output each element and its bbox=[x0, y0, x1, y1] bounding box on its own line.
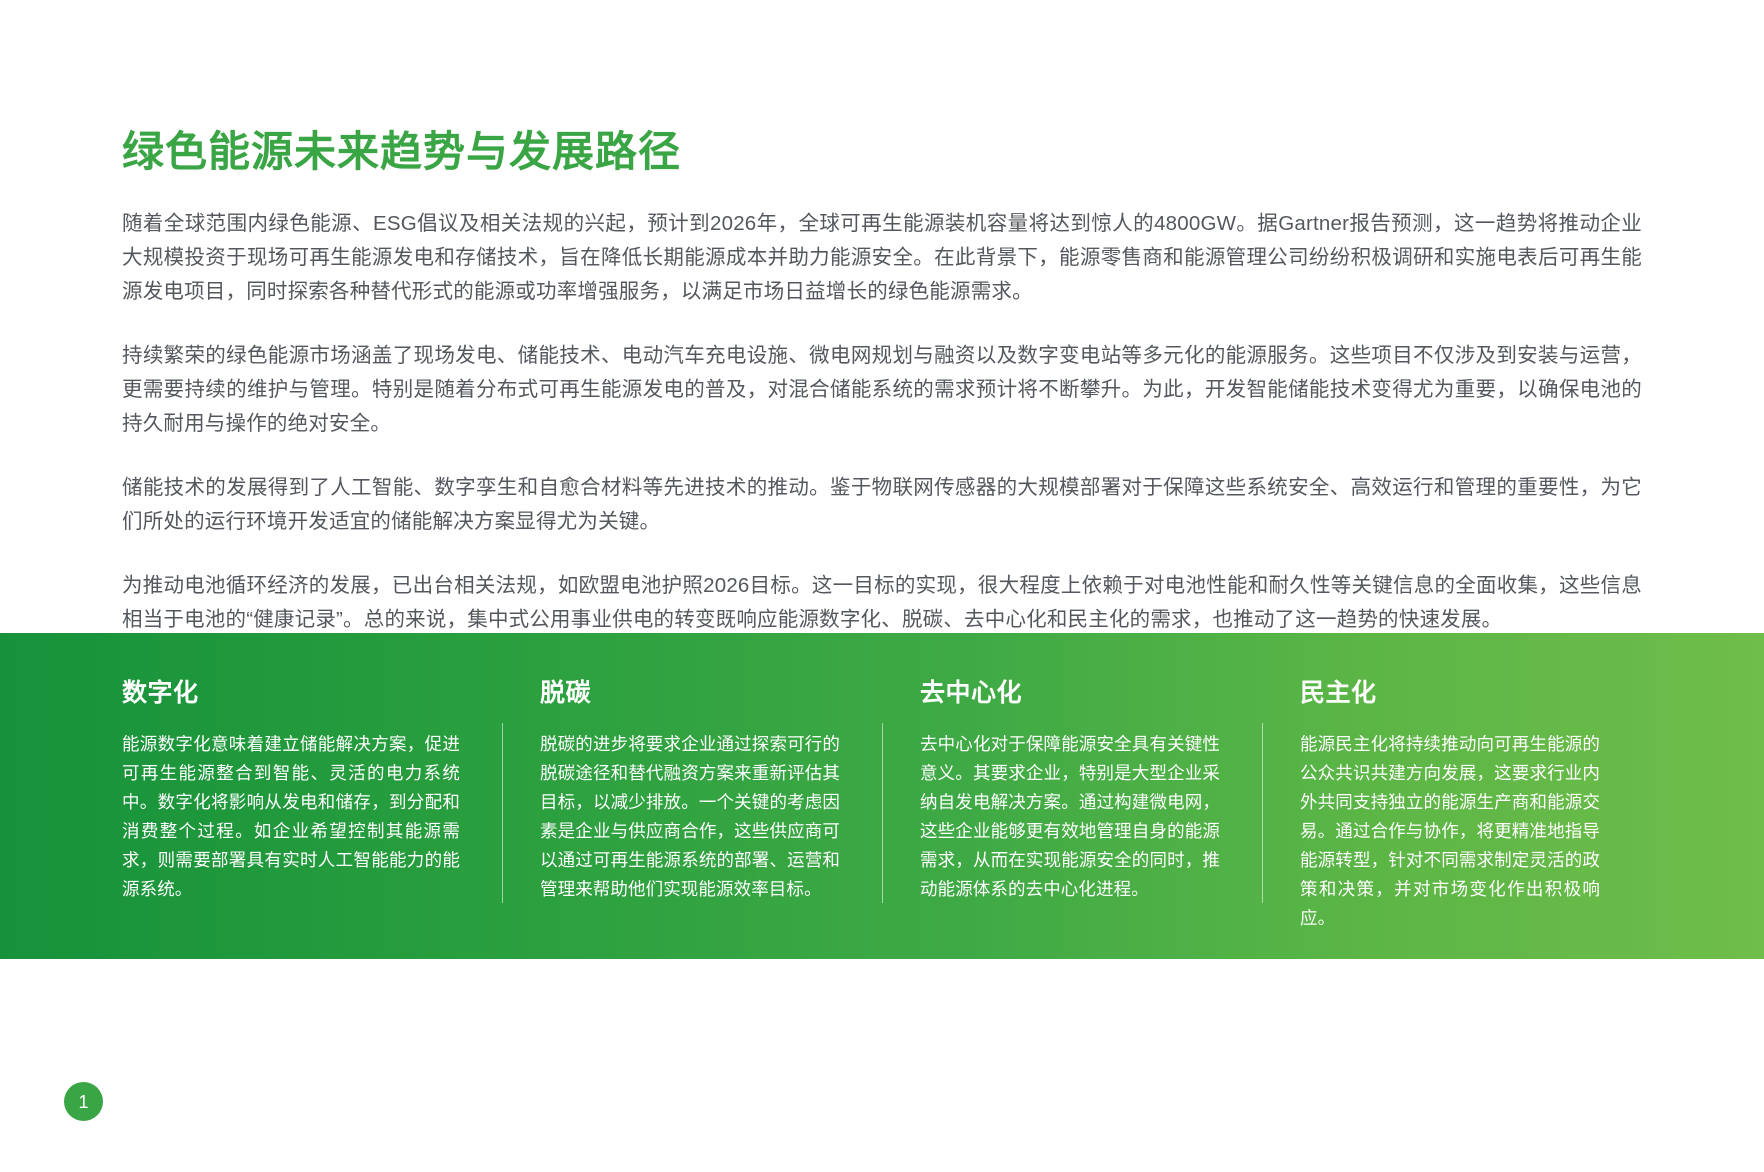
pillar-body: 能源民主化将持续推动向可再生能源的公众共识共建方向发展，这要求行业内外共同支持独… bbox=[1300, 708, 1600, 933]
pillar-body: 能源数字化意味着建立储能解决方案，促进可再生能源整合到智能、灵活的电力系统中。数… bbox=[122, 708, 460, 904]
pillar-title: 数字化 bbox=[122, 633, 460, 708]
pillar-body: 脱碳的进步将要求企业通过探索可行的脱碳途径和替代融资方案来重新评估其目标，以减少… bbox=[540, 708, 840, 904]
intro-section: 随着全球范围内绿色能源、ESG倡议及相关法规的兴起，预计到2026年，全球可再生… bbox=[122, 207, 1642, 637]
document-page: 绿色能源未来趋势与发展路径 随着全球范围内绿色能源、ESG倡议及相关法规的兴起，… bbox=[0, 0, 1764, 1172]
intro-paragraph-3: 储能技术的发展得到了人工智能、数字孪生和自愈合材料等先进技术的推动。鉴于物联网传… bbox=[122, 471, 1642, 539]
pillar-decentralization: 去中心化 去中心化对于保障能源安全具有关键性意义。其要求企业，特别是大型企业采纳… bbox=[882, 633, 1262, 959]
pillars-band: 数字化 能源数字化意味着建立储能解决方案，促进可再生能源整合到智能、灵活的电力系… bbox=[0, 633, 1764, 959]
pillar-body: 去中心化对于保障能源安全具有关键性意义。其要求企业，特别是大型企业采纳自发电解决… bbox=[920, 708, 1220, 904]
pillar-title: 去中心化 bbox=[920, 633, 1220, 708]
intro-paragraph-4: 为推动电池循环经济的发展，已出台相关法规，如欧盟电池护照2026目标。这一目标的… bbox=[122, 569, 1642, 637]
intro-paragraph-1: 随着全球范围内绿色能源、ESG倡议及相关法规的兴起，预计到2026年，全球可再生… bbox=[122, 207, 1642, 309]
pillar-title: 民主化 bbox=[1300, 633, 1600, 708]
page-title: 绿色能源未来趋势与发展路径 bbox=[122, 128, 681, 176]
intro-paragraph-2: 持续繁荣的绿色能源市场涵盖了现场发电、储能技术、电动汽车充电设施、微电网规划与融… bbox=[122, 339, 1642, 441]
page-number-badge: 1 bbox=[64, 1082, 103, 1121]
pillars-container: 数字化 能源数字化意味着建立储能解决方案，促进可再生能源整合到智能、灵活的电力系… bbox=[122, 633, 1642, 959]
pillar-decarbonization: 脱碳 脱碳的进步将要求企业通过探索可行的脱碳途径和替代融资方案来重新评估其目标，… bbox=[502, 633, 882, 959]
pillar-digitalization: 数字化 能源数字化意味着建立储能解决方案，促进可再生能源整合到智能、灵活的电力系… bbox=[122, 633, 502, 959]
pillar-democratization: 民主化 能源民主化将持续推动向可再生能源的公众共识共建方向发展，这要求行业内外共… bbox=[1262, 633, 1642, 959]
pillar-title: 脱碳 bbox=[540, 633, 840, 708]
